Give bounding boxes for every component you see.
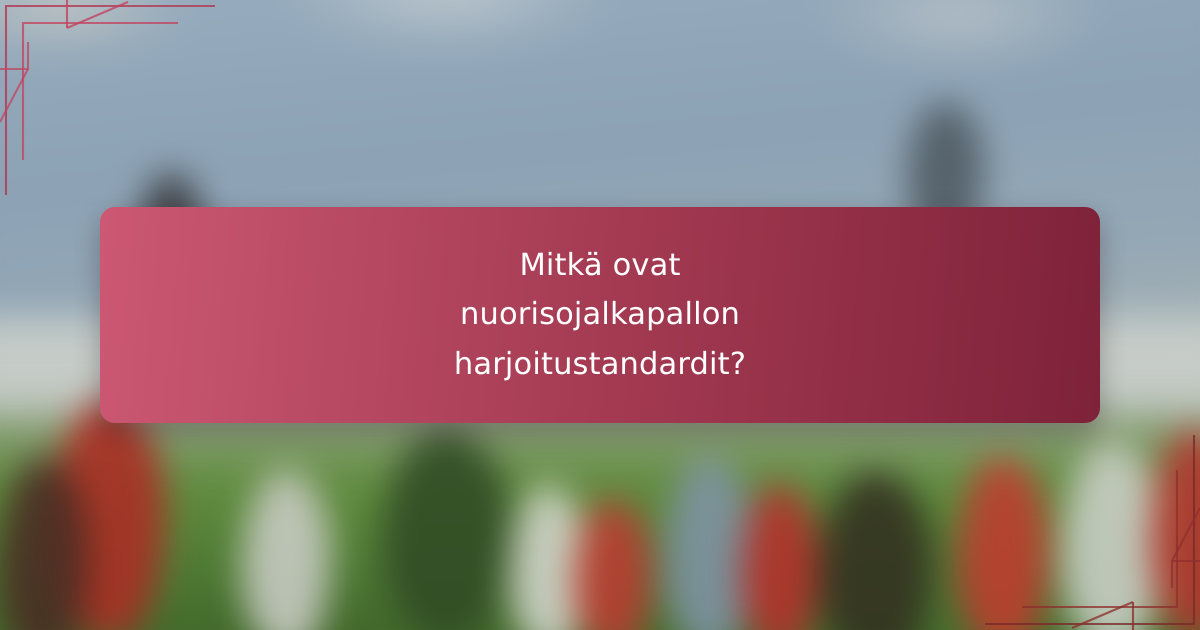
player-dark-center (382, 429, 510, 630)
player-white-right (1061, 443, 1163, 630)
hero-card-stage: Mitkä ovat nuorisojalkapallon harjoitust… (0, 0, 1200, 630)
question-card: Mitkä ovat nuorisojalkapallon harjoitust… (100, 207, 1100, 423)
player-red-center (574, 500, 651, 630)
player-red-right-mid (741, 485, 818, 630)
player-white-mid-left (242, 471, 332, 630)
player-red-far-right (1150, 429, 1200, 630)
player-blue-center (664, 457, 754, 630)
player-dark-right-mid (818, 471, 933, 630)
player-red-right (958, 457, 1048, 630)
question-title: Mitkä ovat nuorisojalkapallon harjoitust… (320, 241, 880, 389)
